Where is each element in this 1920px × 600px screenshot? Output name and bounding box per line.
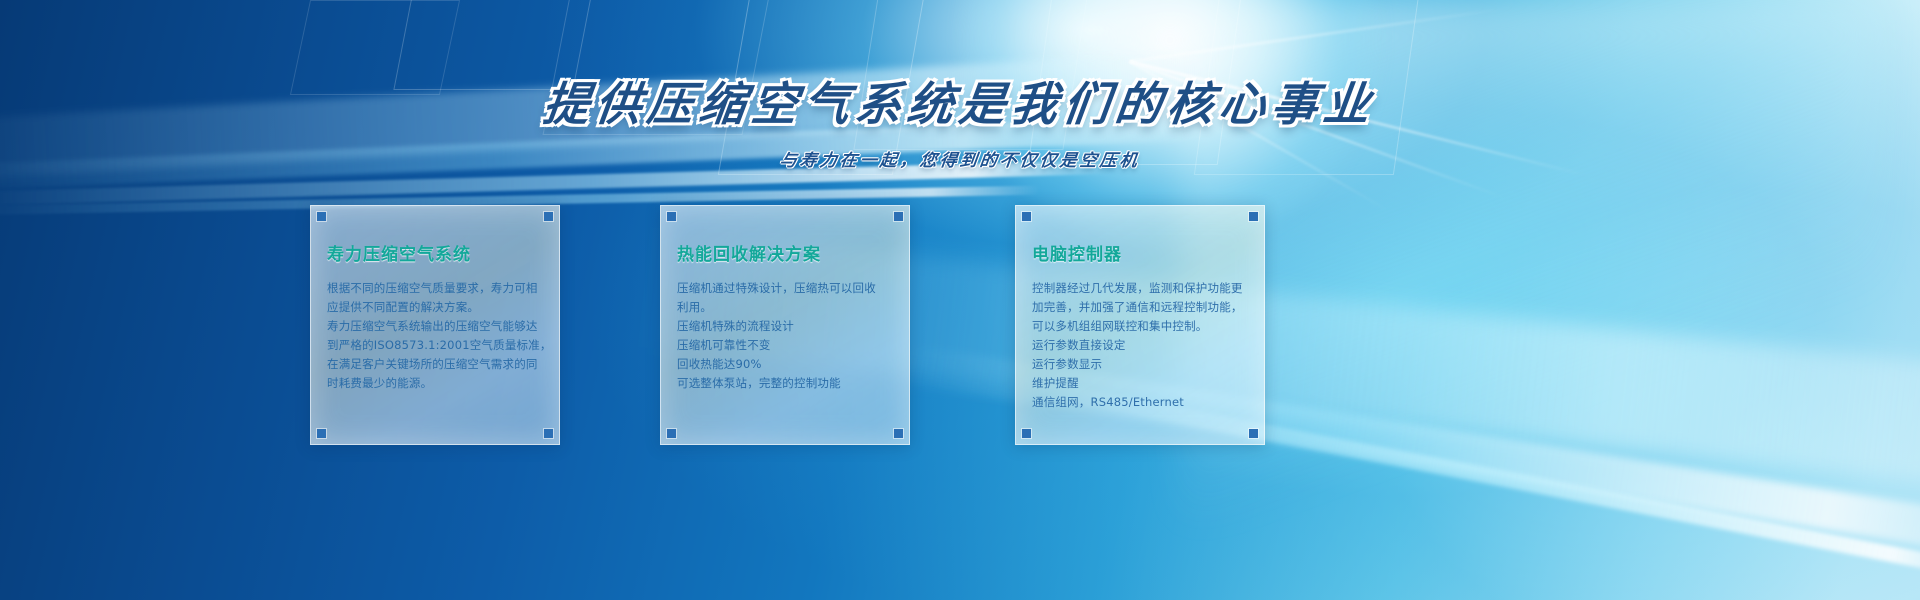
card-line: 根据不同的压缩空气质量要求，寿力可相 — [327, 279, 543, 298]
corner-marker-icon — [894, 212, 903, 221]
card-title: 热能回收解决方案 — [677, 240, 893, 265]
card-line: 压缩机特殊的流程设计 — [677, 317, 893, 336]
card-line: 回收热能达90% — [677, 355, 893, 374]
card-line: 时耗费最少的能源。 — [327, 374, 543, 393]
corner-marker-icon — [1249, 212, 1258, 221]
card-line: 可选整体泵站，完整的控制功能 — [677, 374, 893, 393]
corner-marker-icon — [667, 212, 676, 221]
corner-marker-icon — [1022, 212, 1031, 221]
card-line: 压缩机可靠性不变 — [677, 336, 893, 355]
card-body: 控制器经过几代发展，监测和保护功能更 加完善，并加强了通信和远程控制功能， 可以… — [1032, 279, 1248, 412]
card-line: 应提供不同配置的解决方案。 — [327, 298, 543, 317]
card-line: 寿力压缩空气系统输出的压缩空气能够达 — [327, 317, 543, 336]
card-title: 电脑控制器 — [1032, 240, 1248, 265]
corner-marker-icon — [894, 429, 903, 438]
feature-card-heat-recovery[interactable]: 热能回收解决方案 压缩机通过特殊设计，压缩热可以回收 利用。 压缩机特殊的流程设… — [660, 205, 910, 445]
card-line: 控制器经过几代发展，监测和保护功能更 — [1032, 279, 1248, 298]
card-line: 运行参数直接设定 — [1032, 336, 1248, 355]
card-title: 寿力压缩空气系统 — [327, 240, 543, 265]
corner-marker-icon — [1022, 429, 1031, 438]
card-body: 根据不同的压缩空气质量要求，寿力可相 应提供不同配置的解决方案。 寿力压缩空气系… — [327, 279, 543, 393]
feature-card-compressed-air-system[interactable]: 寿力压缩空气系统 根据不同的压缩空气质量要求，寿力可相 应提供不同配置的解决方案… — [310, 205, 560, 445]
card-line: 加完善，并加强了通信和远程控制功能， — [1032, 298, 1248, 317]
card-line: 可以多机组组网联控和集中控制。 — [1032, 317, 1248, 336]
banner-headline: 提供压缩空气系统是我们的核心事业 — [540, 68, 1380, 134]
feature-card-computer-controller[interactable]: 电脑控制器 控制器经过几代发展，监测和保护功能更 加完善，并加强了通信和远程控制… — [1015, 205, 1265, 445]
card-line: 压缩机通过特殊设计，压缩热可以回收 — [677, 279, 893, 298]
feature-card-group: 寿力压缩空气系统 根据不同的压缩空气质量要求，寿力可相 应提供不同配置的解决方案… — [310, 205, 1610, 445]
card-line: 维护提醒 — [1032, 374, 1248, 393]
corner-marker-icon — [317, 212, 326, 221]
corner-marker-icon — [317, 429, 326, 438]
card-body: 压缩机通过特殊设计，压缩热可以回收 利用。 压缩机特殊的流程设计 压缩机可靠性不… — [677, 279, 893, 393]
corner-marker-icon — [544, 212, 553, 221]
corner-marker-icon — [667, 429, 676, 438]
card-line: 运行参数显示 — [1032, 355, 1248, 374]
card-line: 利用。 — [677, 298, 893, 317]
card-line: 到严格的ISO8573.1:2001空气质量标准， — [327, 336, 543, 355]
promotional-banner: 提供压缩空气系统是我们的核心事业 与寿力在一起，您得到的不仅仅是空压机 寿力压缩… — [0, 0, 1920, 600]
headline-group: 提供压缩空气系统是我们的核心事业 与寿力在一起，您得到的不仅仅是空压机 — [0, 68, 1920, 171]
corner-marker-icon — [1249, 429, 1258, 438]
card-line: 通信组网，RS485/Ethernet — [1032, 393, 1248, 412]
card-line: 在满足客户关键场所的压缩空气需求的同 — [327, 355, 543, 374]
banner-subheadline: 与寿力在一起，您得到的不仅仅是空压机 — [778, 146, 1141, 171]
corner-marker-icon — [544, 429, 553, 438]
